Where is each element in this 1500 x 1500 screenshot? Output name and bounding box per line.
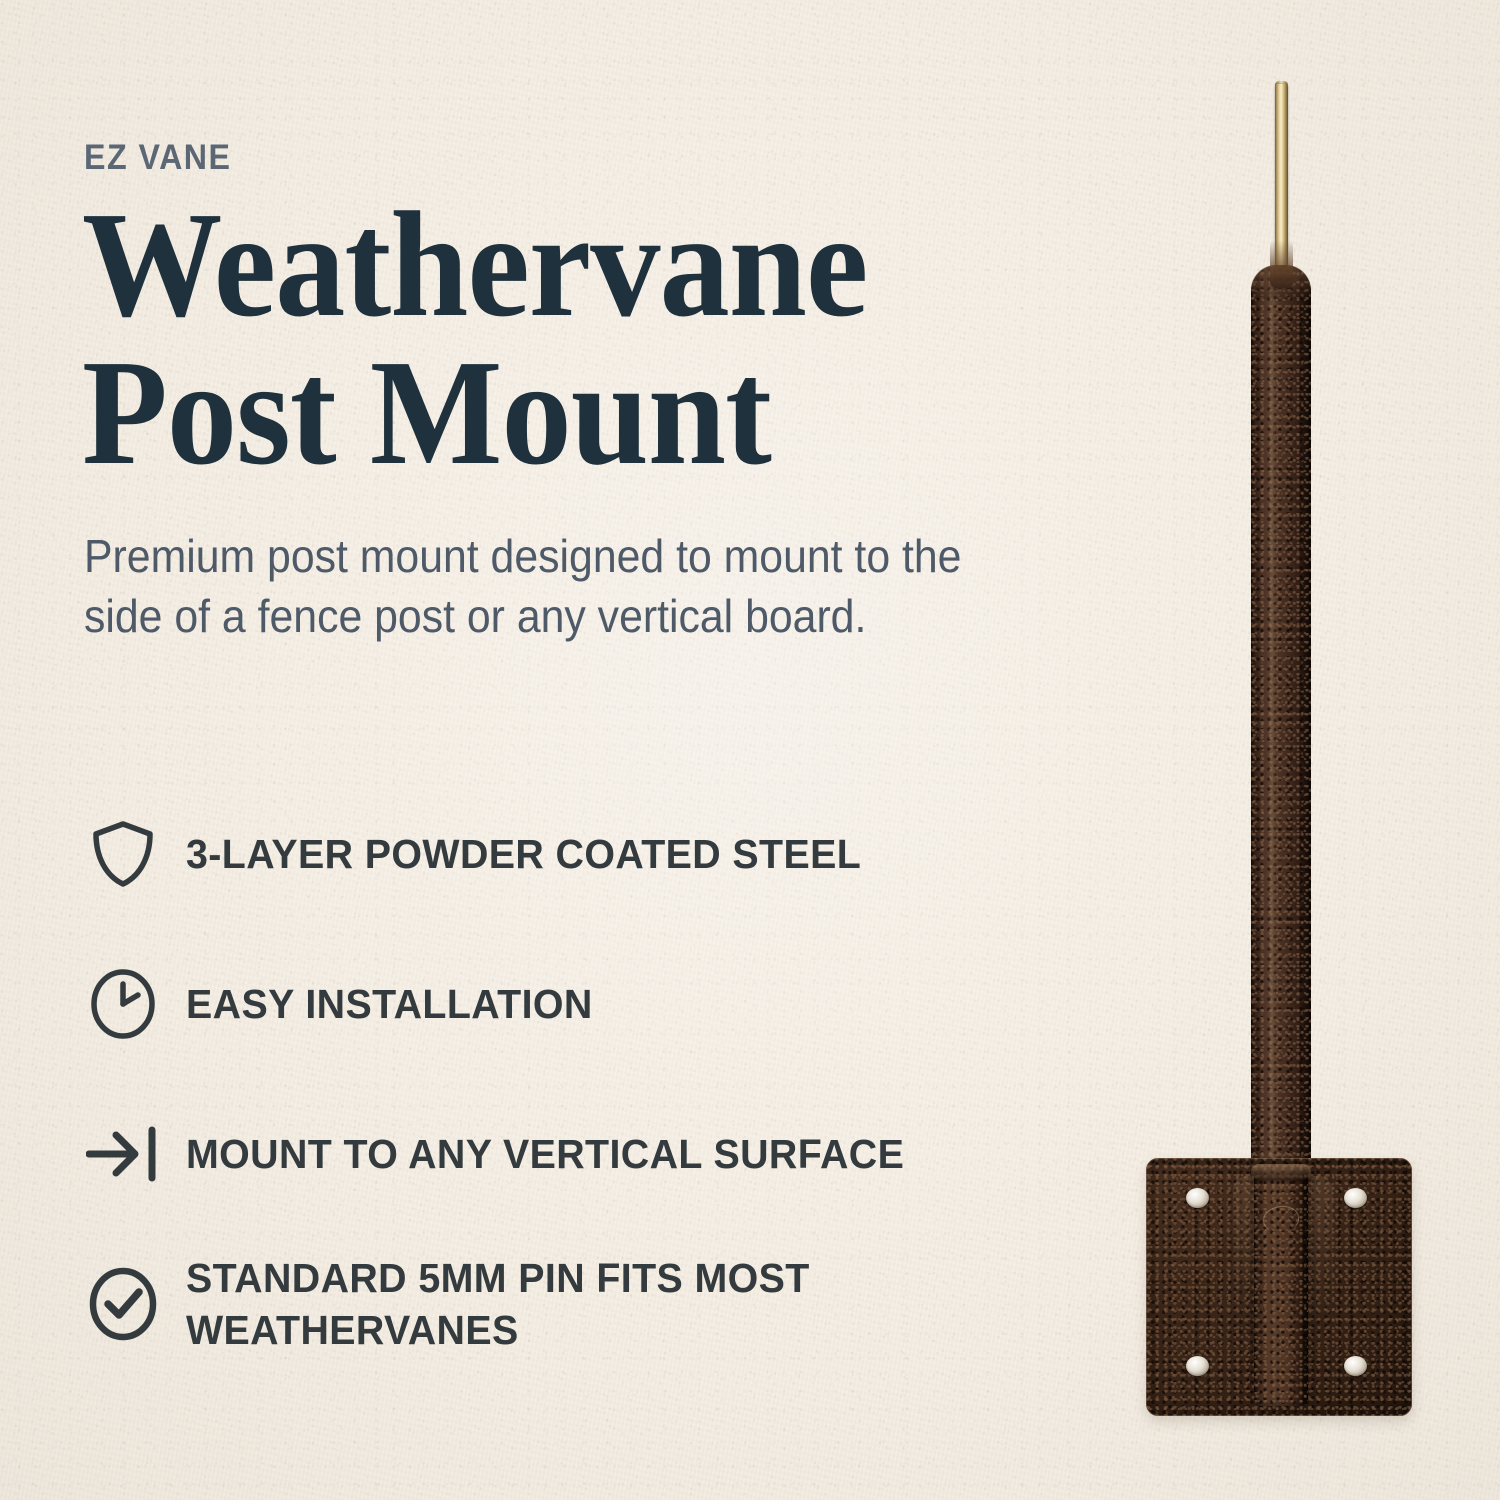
- clock-icon: [84, 965, 162, 1043]
- mounting-sleeve: [1254, 1168, 1308, 1406]
- feature-item-powder-coated-steel: 3-LAYER POWDER COATED STEEL: [84, 790, 954, 918]
- screw-hole: [1186, 1356, 1209, 1376]
- check-circle-icon: [84, 1265, 162, 1343]
- product-image: [1090, 60, 1470, 1460]
- infographic-canvas: EZ VANE Weathervane Post Mount Premium p…: [0, 0, 1500, 1500]
- screw-hole: [1186, 1188, 1209, 1208]
- sleeve-texture: [1254, 1168, 1308, 1406]
- text-column: EZ VANE Weathervane Post Mount Premium p…: [84, 140, 1114, 647]
- screw-hole: [1344, 1356, 1367, 1376]
- feature-label: STANDARD 5MM PIN FITS MOST WEATHERVANES: [186, 1252, 923, 1357]
- rod-texture: [1251, 265, 1311, 1280]
- page-subtitle: Premium post mount designed to mount to …: [84, 527, 1042, 647]
- screw-hole: [1344, 1188, 1367, 1208]
- feature-label: MOUNT TO ANY VERTICAL SURFACE: [186, 1128, 904, 1180]
- feature-item-5mm-pin: STANDARD 5MM PIN FITS MOST WEATHERVANES: [84, 1240, 954, 1368]
- feature-item-vertical-surface: MOUNT TO ANY VERTICAL SURFACE: [84, 1090, 954, 1218]
- page-title-line-2: Post Mount: [82, 339, 1042, 487]
- shield-icon: [84, 815, 162, 893]
- feature-item-easy-installation: EASY INSTALLATION: [84, 940, 954, 1068]
- sleeve-collar-lip: [1251, 1164, 1311, 1180]
- page-title-line-1: Weathervane: [82, 180, 867, 348]
- feature-label: 3-LAYER POWDER COATED STEEL: [186, 828, 861, 880]
- feature-list: 3-LAYER POWDER COATED STEEL EASY INSTALL…: [84, 790, 954, 1368]
- rod-highlight: [1268, 265, 1277, 1280]
- brand-name: EZ VANE: [84, 140, 1032, 175]
- feature-label: EASY INSTALLATION: [186, 978, 593, 1030]
- powder-coated-rod: [1251, 265, 1311, 1280]
- pin-rod-joint: [1270, 240, 1293, 288]
- arrow-to-line-icon: [84, 1115, 162, 1193]
- page-title: Weathervane Post Mount: [82, 191, 1042, 487]
